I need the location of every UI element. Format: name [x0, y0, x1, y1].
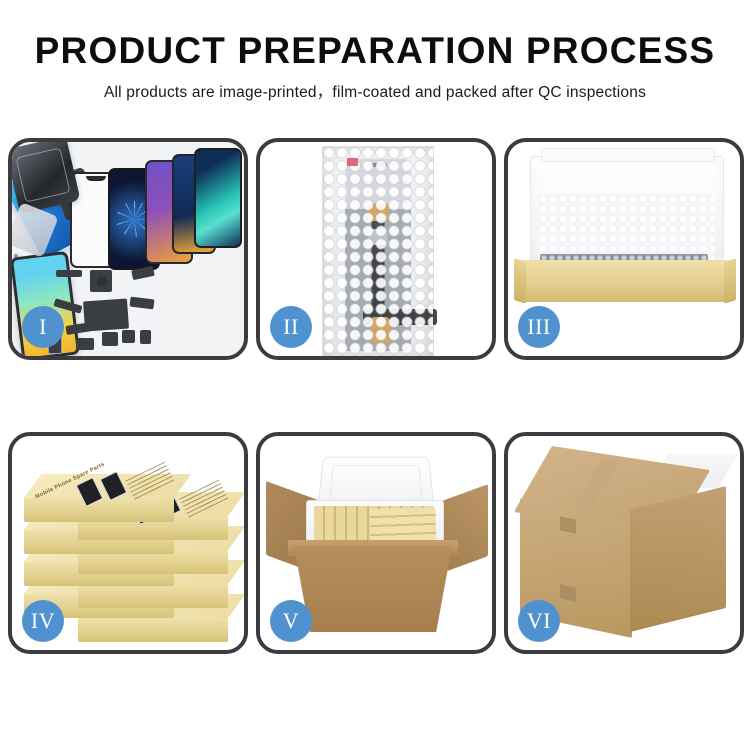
page-title: PRODUCT PREPARATION PROCESS	[0, 30, 750, 71]
step-badge-4: IV	[22, 600, 64, 642]
packed-screen-icon	[345, 159, 411, 351]
step-badge-1: I	[22, 306, 64, 348]
flex-cable-icon-1	[56, 270, 82, 277]
product-preparation-infographic: PRODUCT PREPARATION PROCESS All products…	[0, 0, 750, 750]
process-step-panel-3[interactable]: III	[504, 138, 744, 360]
header: PRODUCT PREPARATION PROCESS All products…	[0, 0, 750, 102]
step-badge-2: II	[270, 306, 312, 348]
page-subtitle: All products are image-printed，film-coat…	[0, 80, 750, 102]
process-step-panel-6[interactable]: VI	[504, 432, 744, 654]
kraft-box-tray-icon	[522, 260, 728, 302]
small-component-icon-3	[76, 338, 94, 350]
connector-right-icon	[375, 319, 391, 343]
pink-label-icon	[347, 158, 358, 166]
process-step-panel-1[interactable]: I	[8, 138, 248, 360]
process-step-panel-2[interactable]: II	[256, 138, 496, 360]
step-badge-3: III	[518, 306, 560, 348]
retail-box-icon-8	[78, 616, 228, 642]
process-step-panel-4[interactable]: Mobile Phone Spare Parts Mobile Phone Sp…	[8, 432, 248, 654]
step-badge-6: VI	[518, 600, 560, 642]
teal-display-icon	[194, 148, 242, 248]
small-component-icon-4	[140, 330, 151, 344]
flex-cable-icon-5	[129, 297, 154, 310]
small-component-icon-1	[102, 332, 118, 346]
retail-box-icon-1: Mobile Phone Spare Parts	[24, 496, 174, 522]
small-component-icon-2	[122, 330, 135, 343]
process-step-grid: I II	[8, 138, 742, 678]
step-badge-5: V	[270, 600, 312, 642]
bubble-wrap-bag-icon	[322, 146, 434, 356]
carton-side-face-icon	[630, 486, 726, 632]
speaker-coil-icon	[90, 270, 112, 292]
carton-body-icon	[294, 546, 452, 632]
process-step-panel-5[interactable]: V	[256, 432, 496, 654]
